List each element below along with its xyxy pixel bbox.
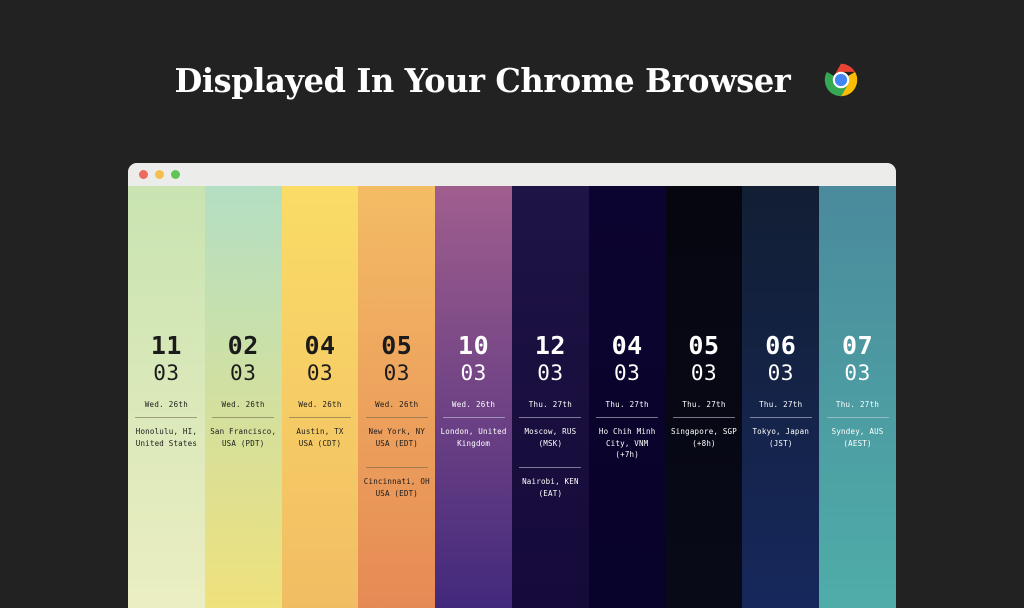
divider <box>366 417 428 418</box>
clock-hour: 10 <box>458 333 489 359</box>
clock-minute: 03 <box>153 359 179 387</box>
day-label: Thu. 27th <box>836 399 879 410</box>
divider <box>212 417 274 418</box>
location-label: Honolulu, HI,United States <box>132 426 201 449</box>
clock-hour: 04 <box>304 333 335 359</box>
location-label: Tokyo, Japan(JST) <box>746 426 815 449</box>
location-label: San Francisco,USA (PDT) <box>209 426 278 449</box>
divider <box>135 417 197 418</box>
clock-hour: 12 <box>535 333 566 359</box>
location-label: London, UnitedKingdom <box>439 426 508 449</box>
divider <box>673 417 735 418</box>
clock-minute: 03 <box>614 359 640 387</box>
divider <box>519 467 581 468</box>
clock-hour: 06 <box>765 333 796 359</box>
day-label: Wed. 26th <box>222 399 265 410</box>
day-label: Wed. 26th <box>375 399 418 410</box>
location-label: Syndey, AUS(AEST) <box>823 426 892 449</box>
clock-minute: 03 <box>230 359 256 387</box>
divider <box>596 417 658 418</box>
location-label: Moscow, RUS(MSK) <box>516 426 585 449</box>
clock-hour: 05 <box>688 333 719 359</box>
divider <box>366 467 428 468</box>
location-label: Singapore, SGP(+8h) <box>669 426 738 449</box>
page-root: Displayed In Your Chrome Browser 1103Wed… <box>0 0 1024 608</box>
timezone-column: 0403Thu. 27thHo Chih MinhCity, VNM(+7h) <box>589 186 666 608</box>
clock-minute: 03 <box>768 359 794 387</box>
clock-minute: 03 <box>460 359 486 387</box>
timezone-column: 1103Wed. 26thHonolulu, HI,United States <box>128 186 205 608</box>
timezone-column: 0403Wed. 26thAustin, TXUSA (CDT) <box>282 186 359 608</box>
location-label: New York, NYUSA (EDT) <box>362 426 431 449</box>
day-label: Wed. 26th <box>452 399 495 410</box>
clock-hour: 11 <box>151 333 182 359</box>
clock-minute: 03 <box>691 359 717 387</box>
clock-minute: 03 <box>537 359 563 387</box>
divider <box>827 417 889 418</box>
timezone-column: 0503Wed. 26thNew York, NYUSA (EDT)Cincin… <box>358 186 435 608</box>
day-label: Wed. 26th <box>298 399 341 410</box>
clock-hour: 04 <box>612 333 643 359</box>
timezone-columns: 1103Wed. 26thHonolulu, HI,United States0… <box>128 186 896 608</box>
divider <box>443 417 505 418</box>
clock-hour: 02 <box>228 333 259 359</box>
maximize-button[interactable] <box>171 170 180 179</box>
day-label: Thu. 27th <box>759 399 802 410</box>
divider <box>750 417 812 418</box>
timezone-column: 0703Thu. 27thSyndey, AUS(AEST) <box>819 186 896 608</box>
timezone-column: 0503Thu. 27thSingapore, SGP(+8h) <box>666 186 743 608</box>
clock-minute: 03 <box>307 359 333 387</box>
clock-minute: 03 <box>844 359 870 387</box>
close-button[interactable] <box>139 170 148 179</box>
clock-hour: 05 <box>381 333 412 359</box>
timezone-column: 0603Thu. 27thTokyo, Japan(JST) <box>742 186 819 608</box>
divider <box>519 417 581 418</box>
location-label: Ho Chih MinhCity, VNM(+7h) <box>593 426 662 461</box>
timezone-column: 1003Wed. 26thLondon, UnitedKingdom <box>435 186 512 608</box>
location-label: Austin, TXUSA (CDT) <box>285 426 354 449</box>
divider <box>289 417 351 418</box>
timezone-column: 0203Wed. 26thSan Francisco,USA (PDT) <box>205 186 282 608</box>
timezone-column: 1203Thu. 27thMoscow, RUS(MSK)Nairobi, KE… <box>512 186 589 608</box>
day-label: Thu. 27th <box>682 399 725 410</box>
day-label: Wed. 26th <box>145 399 188 410</box>
location-label: Nairobi, KEN(EAT) <box>516 476 585 499</box>
clock-hour: 07 <box>842 333 873 359</box>
location-label: Cincinnati, OHUSA (EDT) <box>362 476 431 499</box>
clock-minute: 03 <box>384 359 410 387</box>
page-title: Displayed In Your Chrome Browser <box>174 61 790 100</box>
browser-titlebar <box>128 163 896 186</box>
browser-window: 1103Wed. 26thHonolulu, HI,United States0… <box>128 163 896 608</box>
minimize-button[interactable] <box>155 170 164 179</box>
page-header: Displayed In Your Chrome Browser <box>0 0 1024 160</box>
day-label: Thu. 27th <box>606 399 649 410</box>
day-label: Thu. 27th <box>529 399 572 410</box>
chrome-logo-icon <box>823 62 859 98</box>
